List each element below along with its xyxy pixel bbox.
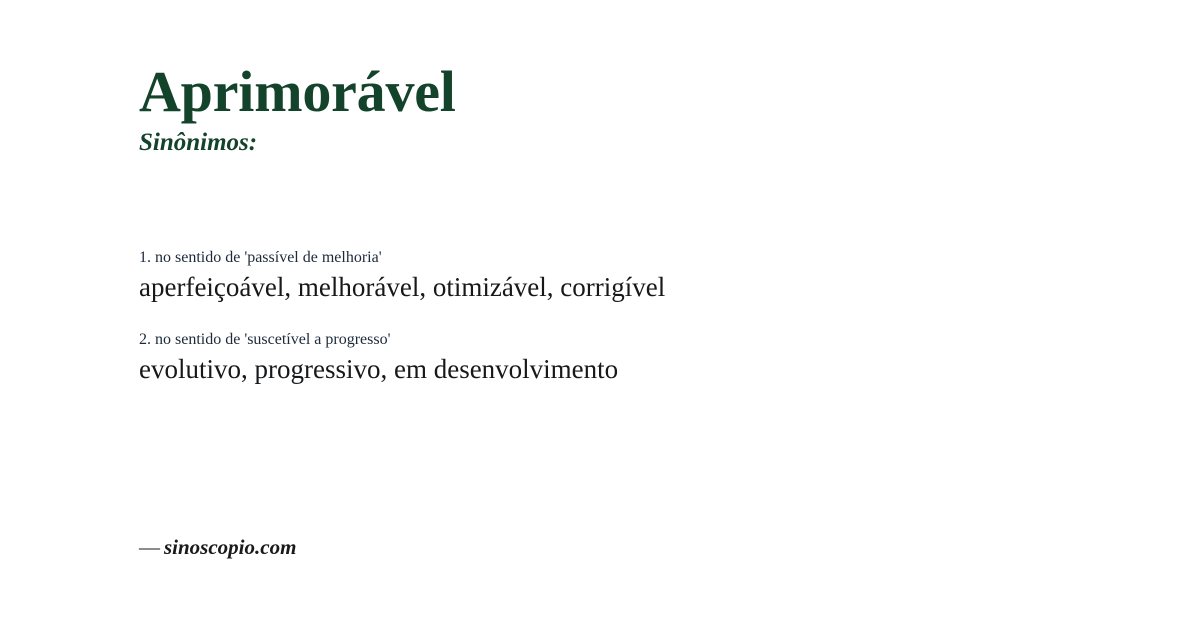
- sense-synonyms-2: evolutivo, progressivo, em desenvolvimen…: [139, 353, 1149, 386]
- sense-synonyms-1: aperfeiçoável, melhorável, otimizável, c…: [139, 271, 1149, 304]
- source-name: sinoscopio.com: [164, 535, 296, 559]
- sense-entry-2: 2. no sentido de 'suscetível a progresso…: [139, 330, 1149, 386]
- em-dash-icon: —: [139, 535, 164, 559]
- subtitle-synonyms-label: Sinônimos:: [139, 129, 1139, 157]
- card-header: Aprimorável Sinônimos:: [139, 62, 1139, 156]
- sense-list: 1. no sentido de 'passível de melhoria' …: [139, 248, 1149, 386]
- sense-label-2: 2. no sentido de 'suscetível a progresso…: [139, 330, 1149, 350]
- card-footer: —sinoscopio.com: [139, 535, 296, 560]
- sense-entry-1: 1. no sentido de 'passível de melhoria' …: [139, 248, 1149, 304]
- sense-label-1: 1. no sentido de 'passível de melhoria': [139, 248, 1149, 268]
- page-title: Aprimorável: [139, 62, 1139, 123]
- attribution: —sinoscopio.com: [139, 535, 296, 560]
- synonym-card: Aprimorável Sinônimos: 1. no sentido de …: [0, 0, 1200, 628]
